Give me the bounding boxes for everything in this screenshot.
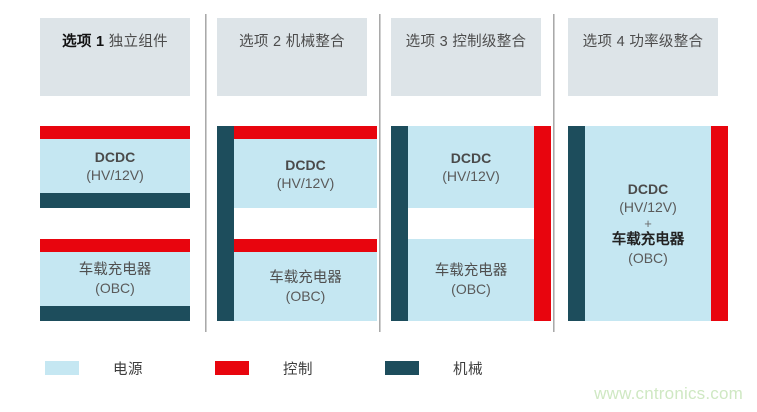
option-3-header-text: 选项 3 控制级整合 (406, 31, 527, 54)
mechanical-swatch-icon (385, 361, 419, 375)
option-1-description: 独立组件 (109, 34, 168, 50)
option-2-description: 机械整合 (286, 34, 345, 50)
option-1-label: 选项 1 (62, 34, 104, 50)
block-line: (HV/12V) (277, 174, 335, 192)
option-4-merged-block: DCDC (HV/12V) + 车载充电器 (OBC) (585, 126, 711, 321)
block-line-plus: + (644, 216, 652, 231)
block-line: 车载充电器 (269, 269, 342, 287)
option-1-header-card: 选项 1 独立组件 (40, 18, 190, 96)
legend-label: 机械 (453, 358, 483, 379)
option-column-2: 选项 2 机械整合 DCDC (HV/12V) 车载充电器 (OBC) (207, 0, 379, 340)
option-3-obc-block: 车载充电器 (OBC) (408, 239, 534, 321)
block-line: 车载充电器 (612, 231, 685, 249)
block-line: (OBC) (95, 279, 135, 297)
option-4-stack: DCDC (HV/12V) + 车载充电器 (OBC) (568, 126, 728, 326)
control-bar (40, 126, 190, 139)
control-swatch-icon (215, 361, 249, 375)
legend-item-mechanical: 机械 (385, 355, 483, 381)
power-body: 车载充电器 (OBC) (234, 252, 377, 321)
option-column-3: 选项 3 控制级整合 DCDC (HV/12V) 车载充电器 (OBC) (381, 0, 553, 340)
block-line: (HV/12V) (442, 167, 500, 185)
block-line: DCDC (451, 149, 491, 167)
shared-mechanical-bar (217, 126, 234, 321)
option-column-1: 选项 1 独立组件 DCDC (HV/12V) 车载充电器 (OBC) (0, 0, 205, 340)
block-line: DCDC (285, 156, 325, 174)
option-3-stack: DCDC (HV/12V) 车载充电器 (OBC) (391, 126, 551, 326)
integration-options-diagram: 选项 1 独立组件 DCDC (HV/12V) 车载充电器 (OBC) (0, 0, 757, 412)
control-bar (234, 239, 377, 252)
shared-mechanical-bar (568, 126, 585, 321)
shared-mechanical-bar (391, 126, 408, 321)
option-2-header-card: 选项 2 机械整合 (217, 18, 367, 96)
option-2-header-text: 选项 2 机械整合 (239, 31, 345, 54)
block-line: 车载充电器 (435, 262, 508, 280)
block-line: (HV/12V) (619, 198, 677, 216)
mechanical-bar (40, 306, 190, 321)
option-4-description: 功率级整合 (629, 34, 703, 50)
control-bar (234, 126, 377, 139)
legend-item-control: 控制 (215, 355, 313, 381)
legend-label: 控制 (283, 358, 313, 379)
shared-control-bar (534, 126, 551, 321)
option-4-header-card: 选项 4 功率级整合 (568, 18, 718, 96)
option-2-label: 选项 2 (239, 34, 281, 50)
block-line: (OBC) (451, 280, 491, 298)
power-body: DCDC (HV/12V) (40, 139, 190, 193)
block-line: (OBC) (628, 249, 668, 267)
block-line: 车载充电器 (79, 261, 152, 279)
legend-item-power: 电源 (45, 355, 143, 381)
option-3-dcdc-block: DCDC (HV/12V) (408, 126, 534, 208)
power-body: DCDC (HV/12V) (234, 139, 377, 208)
block-line: (HV/12V) (86, 166, 144, 184)
block-line: DCDC (628, 180, 668, 198)
option-3-label: 选项 3 (406, 34, 448, 50)
site-watermark: www.cntronics.com (594, 384, 743, 404)
shared-control-bar (711, 126, 728, 321)
power-body: 车载充电器 (OBC) (40, 252, 190, 306)
legend: 电源 控制 机械 (0, 355, 757, 381)
control-bar (40, 239, 190, 252)
option-3-header-card: 选项 3 控制级整合 (391, 18, 541, 96)
option-1-stack: DCDC (HV/12V) 车载充电器 (OBC) (40, 126, 190, 326)
option-4-label: 选项 4 (583, 34, 625, 50)
legend-label: 电源 (113, 358, 143, 379)
block-line: DCDC (95, 148, 135, 166)
option-2-stack: DCDC (HV/12V) 车载充电器 (OBC) (217, 126, 377, 326)
option-3-description: 控制级整合 (452, 34, 526, 50)
option-column-4: 选项 4 功率级整合 DCDC (HV/12V) + 车载充电器 (OBC) (555, 0, 757, 340)
block-line: (OBC) (286, 287, 326, 305)
option-4-header-text: 选项 4 功率级整合 (583, 31, 704, 54)
option-1-header-text: 选项 1 独立组件 (62, 31, 168, 54)
power-swatch-icon (45, 361, 79, 375)
mechanical-bar (40, 193, 190, 208)
